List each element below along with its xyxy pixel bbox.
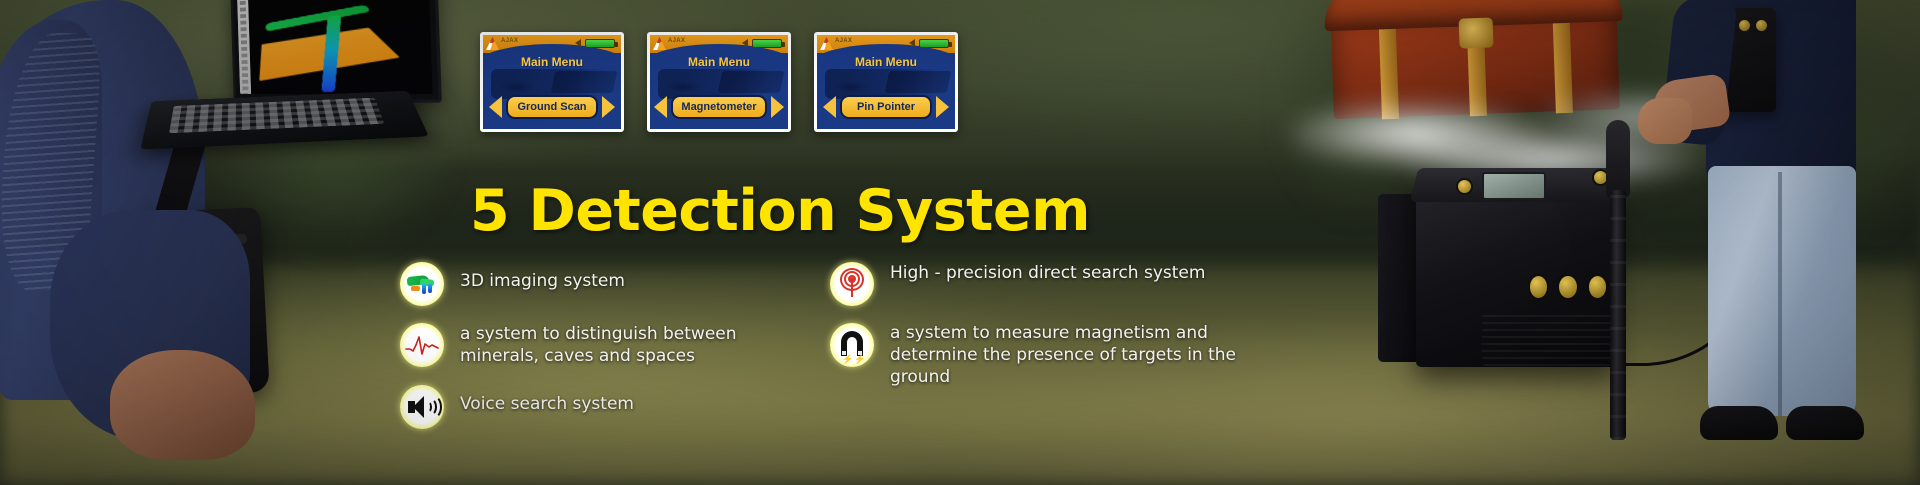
laptop	[148, 0, 438, 164]
next-arrow-icon[interactable]	[602, 96, 615, 118]
detector-case	[1378, 162, 1626, 367]
waveform-pulse-icon	[400, 323, 444, 367]
software-toolbar	[237, 0, 251, 94]
hand	[110, 350, 255, 460]
signal-target-icon	[830, 262, 874, 306]
3d-terrain-icon	[400, 262, 444, 306]
battery-icon	[752, 39, 782, 48]
prev-arrow-icon[interactable]	[823, 96, 836, 118]
device-panel-ground-scan[interactable]: AJAX Main Menu Ground Scan	[480, 32, 624, 132]
battery-icon	[919, 39, 949, 48]
feature-column-left: 3D imaging system a system to distinguis…	[400, 262, 800, 446]
next-arrow-icon[interactable]	[936, 96, 949, 118]
feature-label: 3D imaging system	[460, 262, 625, 293]
prev-arrow-icon[interactable]	[489, 96, 502, 118]
brand-logo-text: AJAX	[501, 38, 518, 44]
banner-stage: AJAX Main Menu Ground Scan AJAX Main Men…	[0, 0, 1920, 485]
feature-label: High - precision direct search system	[890, 262, 1205, 285]
feature-item-magnetism: ⚡⚡ a system to measure magnetism and det…	[830, 323, 1240, 388]
mode-button[interactable]: Ground Scan	[506, 95, 598, 119]
pin-pointer-probe	[1605, 120, 1631, 440]
device-panel-pin-pointer[interactable]: AJAX Main Menu Pin Pointer	[814, 32, 958, 132]
speaker-icon	[909, 39, 915, 47]
panel-title: Main Menu	[817, 55, 955, 69]
feature-label: a system to measure magnetism and determ…	[890, 323, 1240, 388]
shoe	[1700, 406, 1778, 440]
panel-selector-row: Pin Pointer	[817, 95, 955, 119]
next-arrow-icon[interactable]	[771, 96, 784, 118]
page-title: 5 Detection System	[470, 178, 1090, 244]
laptop-base	[140, 91, 429, 150]
case-display	[1482, 172, 1546, 200]
prev-arrow-icon[interactable]	[654, 96, 667, 118]
feature-label: Voice search system	[460, 385, 634, 416]
panel-selector-row: Ground Scan	[483, 95, 621, 119]
laptop-keyboard	[169, 98, 384, 133]
mode-button[interactable]: Magnetometer	[671, 95, 766, 119]
feature-column-right: High - precision direct search system ⚡⚡…	[830, 262, 1240, 405]
device-mode-panels: AJAX Main Menu Ground Scan AJAX Main Men…	[480, 32, 958, 132]
probe-grip	[1606, 120, 1630, 198]
3d-scan-visualization	[256, 0, 402, 94]
battery-icon	[585, 39, 615, 48]
feature-item-3d-imaging: 3D imaging system	[400, 262, 800, 306]
panel-selector-row: Magnetometer	[650, 95, 788, 119]
feature-item-mineral-discrimination: a system to distinguish between minerals…	[400, 323, 800, 368]
scan-ridge	[266, 5, 372, 32]
horseshoe-magnet-icon: ⚡⚡	[830, 323, 874, 367]
case-vent	[1482, 312, 1612, 366]
feature-item-high-precision-search: High - precision direct search system	[830, 262, 1240, 306]
speaker-icon	[575, 39, 581, 47]
feature-label: a system to distinguish between minerals…	[460, 323, 800, 368]
feature-item-voice-search: Voice search system	[400, 385, 800, 429]
laptop-lid	[230, 0, 442, 103]
jeans	[1708, 166, 1856, 416]
case-knob	[1456, 178, 1473, 195]
speaker-volume-icon	[400, 385, 444, 429]
brand-logo-text: AJAX	[668, 38, 685, 44]
man-with-probe	[1660, 0, 1920, 485]
case-front-panel	[1416, 182, 1616, 367]
panel-title: Main Menu	[483, 55, 621, 69]
laptop-screen	[237, 0, 433, 94]
hand	[1638, 98, 1692, 144]
case-control-buttons	[1528, 274, 1608, 300]
brand-logo-text: AJAX	[835, 38, 852, 44]
device-panel-magnetometer[interactable]: AJAX Main Menu Magnetometer	[647, 32, 791, 132]
probe-shaft	[1610, 190, 1626, 440]
speaker-icon	[742, 39, 748, 47]
shoe	[1786, 406, 1864, 440]
panel-title: Main Menu	[650, 55, 788, 69]
mode-button[interactable]: Pin Pointer	[840, 95, 932, 119]
